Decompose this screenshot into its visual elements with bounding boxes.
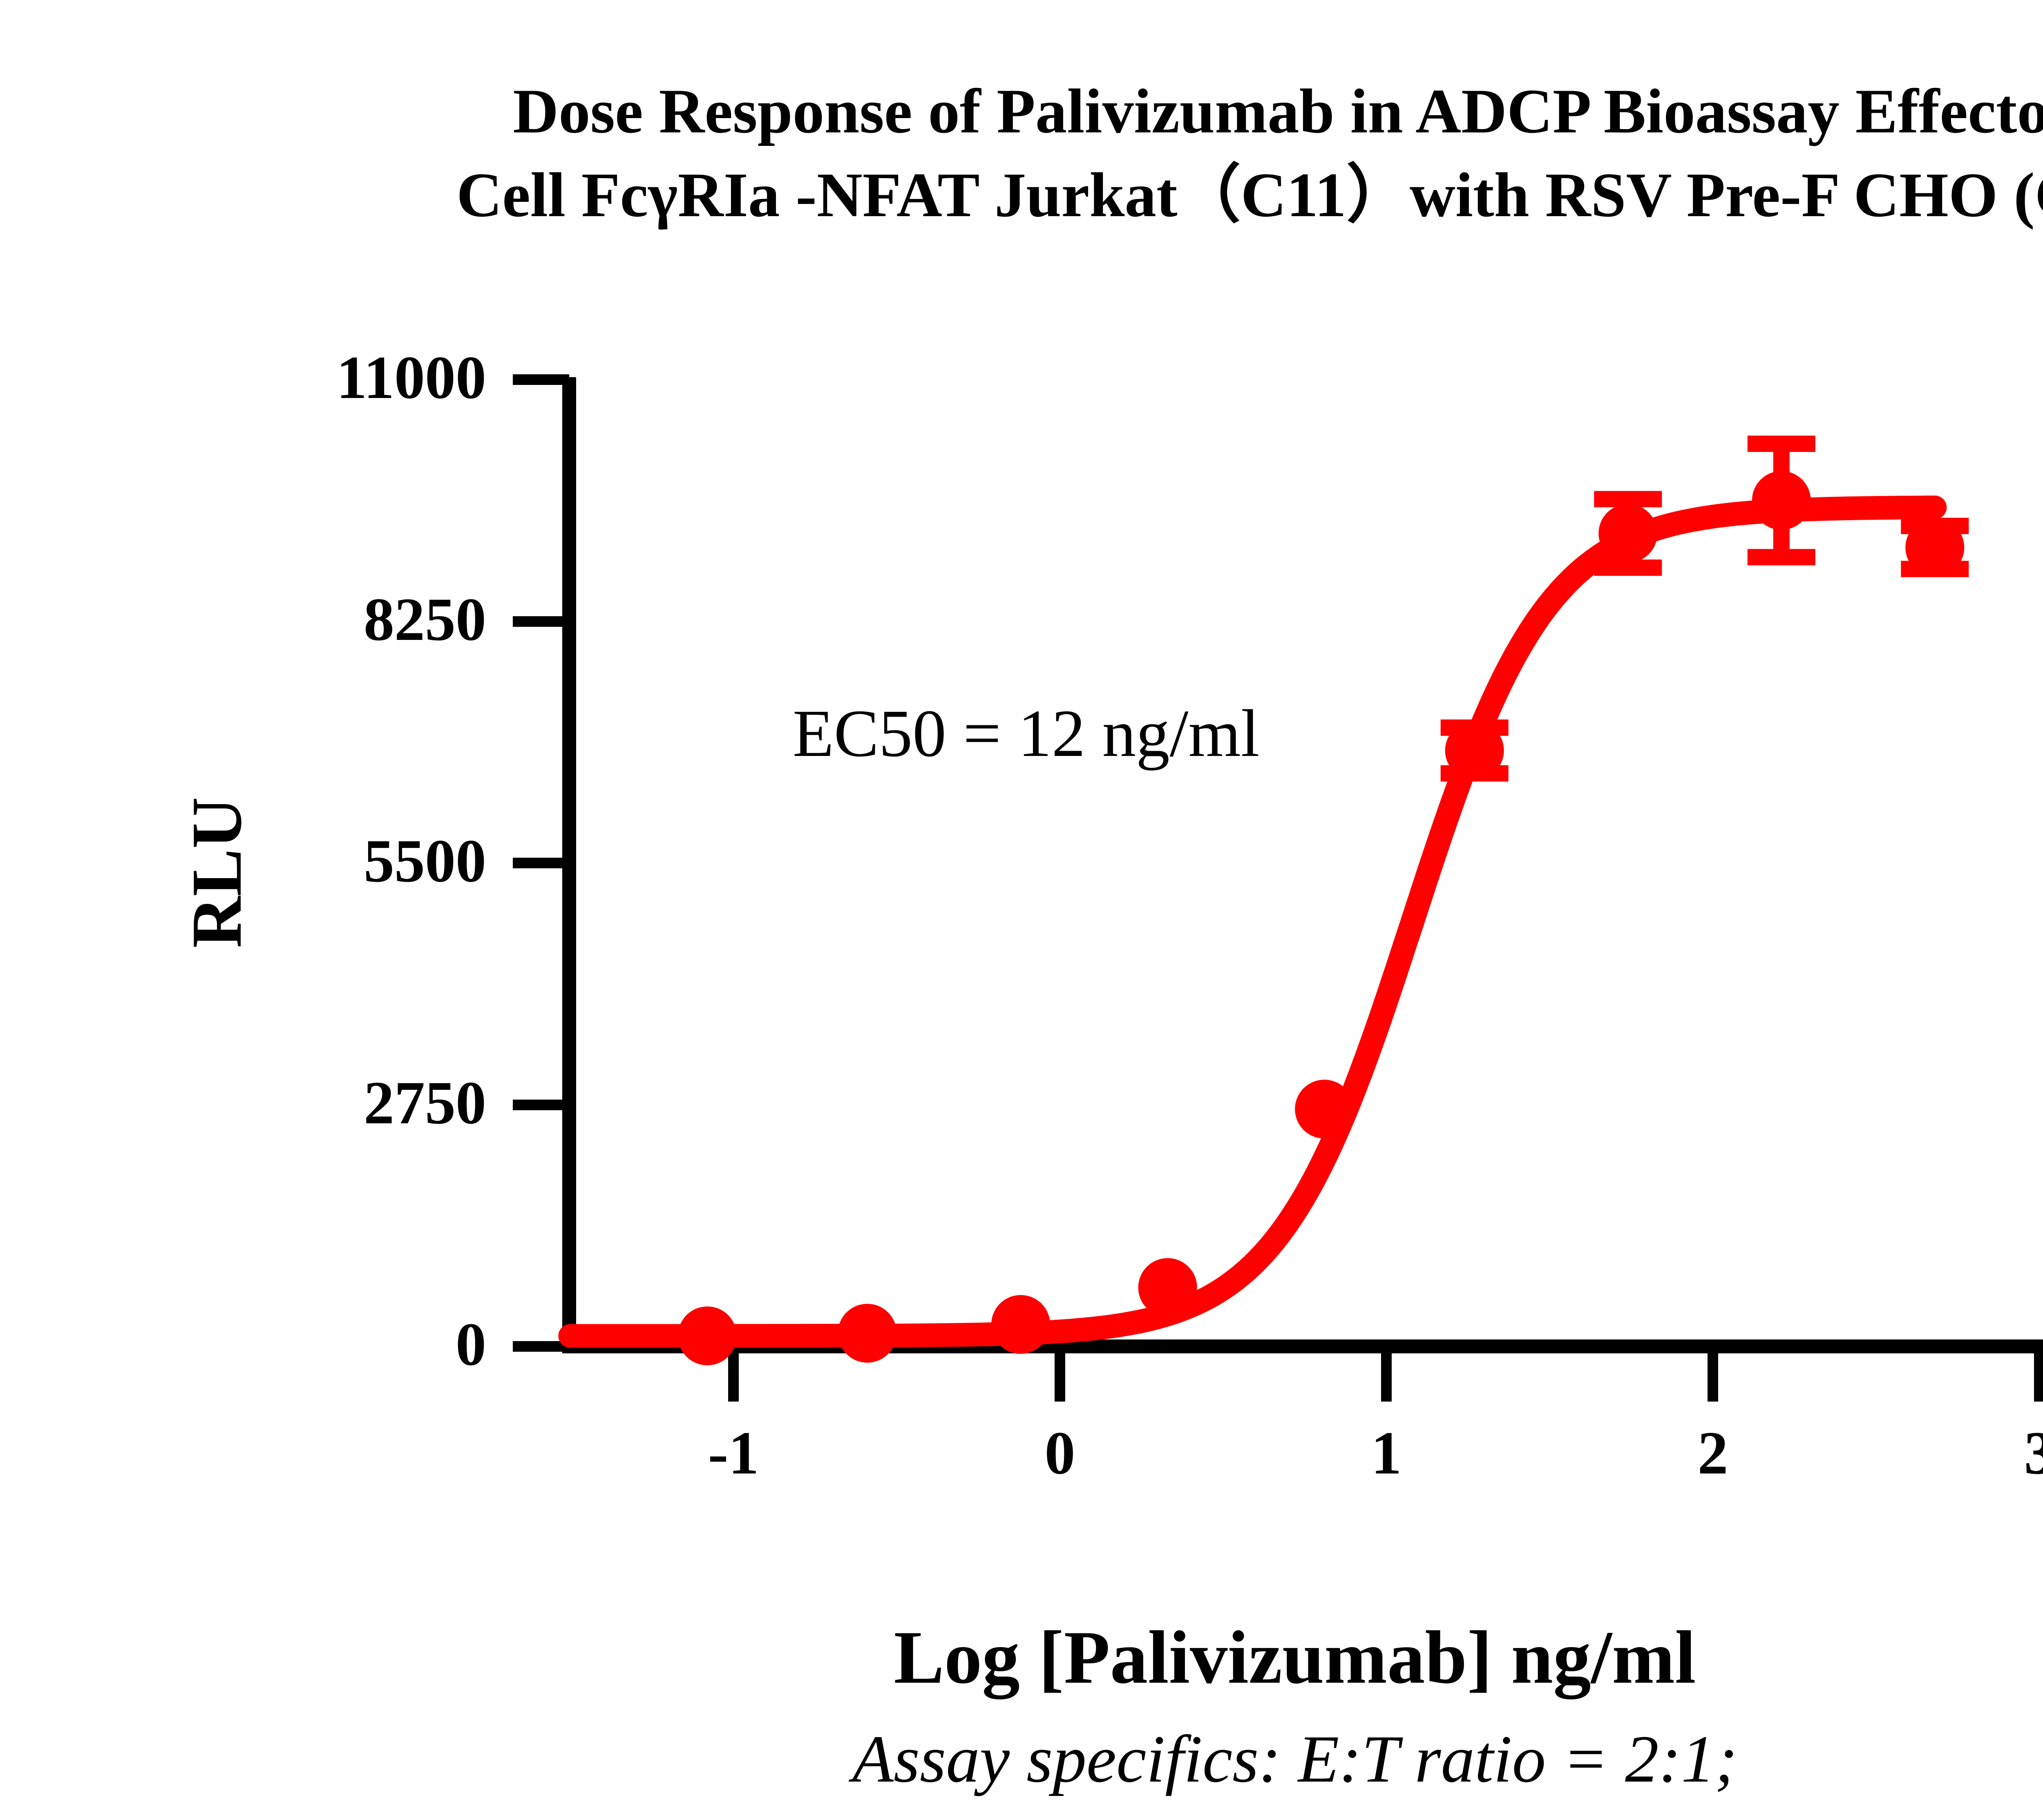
ec50-annotation: EC50 = 12 ng/ml xyxy=(793,695,1260,772)
y-tick-label-8250: 8250 xyxy=(200,584,486,655)
chart-plot-area: 11000 8250 5500 2750 0 -1 0 1 2 3 RLU Lo… xyxy=(0,0,2043,1820)
x-tick-label-2: 2 xyxy=(1631,1418,1795,1488)
data-point xyxy=(1445,721,1504,780)
data-point xyxy=(678,1306,737,1365)
y-tick-label-2750: 2750 xyxy=(200,1068,486,1138)
data-point xyxy=(838,1304,897,1363)
x-tick-label-minus1: -1 xyxy=(652,1418,815,1488)
figure-caption: Assay specifics: E:T ratio = 2:1; xyxy=(0,1720,2043,1798)
y-axis-ticks xyxy=(513,380,569,1346)
y-tick-label-0: 0 xyxy=(200,1309,486,1380)
data-point xyxy=(1295,1080,1354,1138)
error-bars xyxy=(1441,444,1969,774)
dose-response-curve-svg xyxy=(0,0,2043,1820)
data-point xyxy=(1905,518,1964,577)
data-point xyxy=(1598,504,1657,563)
x-tick-label-0: 0 xyxy=(978,1418,1142,1488)
data-point-markers xyxy=(678,471,1964,1365)
y-tick-label-11000: 11000 xyxy=(200,342,486,413)
x-axis-title: Log [Palivizumab] ng/ml xyxy=(0,1614,2043,1701)
data-point xyxy=(991,1295,1050,1354)
x-tick-label-1: 1 xyxy=(1305,1418,1468,1488)
x-axis-ticks xyxy=(733,1346,2039,1402)
fit-curve xyxy=(570,508,1935,1336)
data-point xyxy=(1752,471,1811,530)
data-point xyxy=(1138,1258,1197,1317)
x-tick-label-3: 3 xyxy=(1958,1418,2043,1488)
y-axis-title: RLU xyxy=(176,797,258,948)
